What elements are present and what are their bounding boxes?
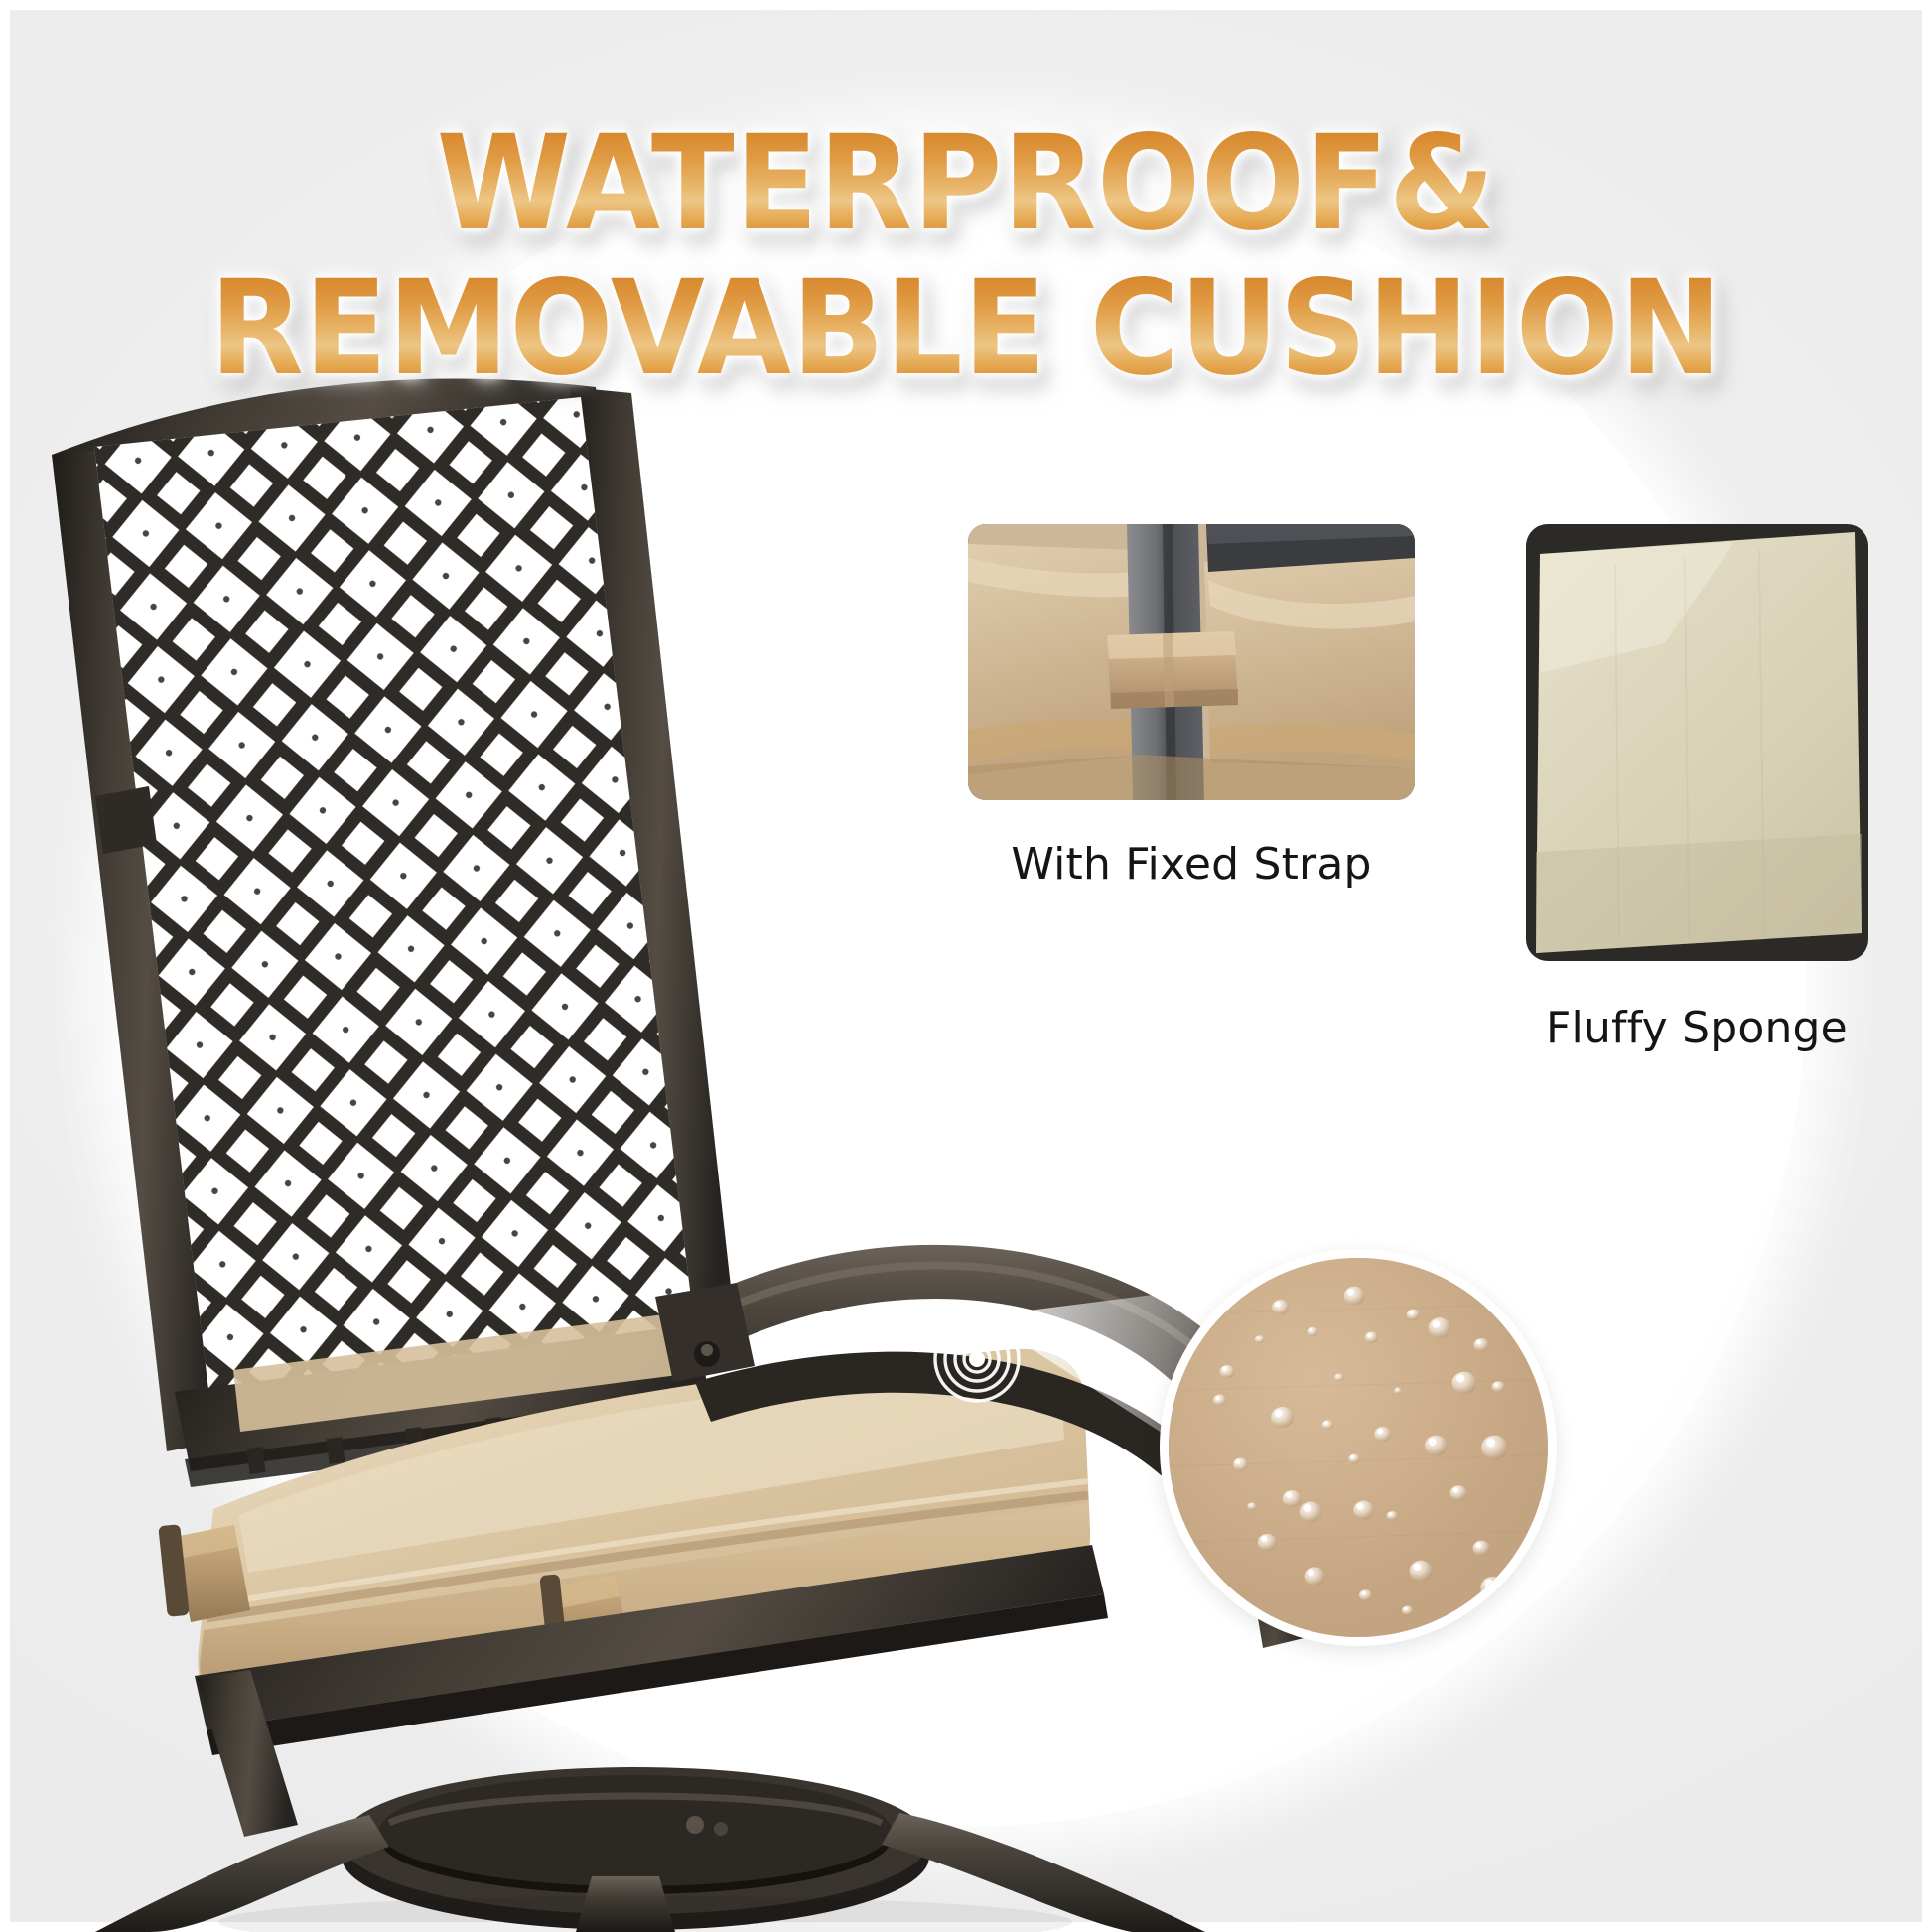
caption-with-fixed-strap: With Fixed Strap — [968, 839, 1415, 890]
inset-with-fixed-strap — [968, 524, 1415, 800]
caption-fluffy-sponge: Fluffy Sponge — [1502, 1003, 1891, 1053]
inset-waterproof-beading — [1160, 1249, 1557, 1646]
product-feature-poster: WATERPROOF& REMOVABLE CUSHION — [0, 0, 1932, 1932]
inset-fluffy-sponge — [1526, 524, 1868, 961]
